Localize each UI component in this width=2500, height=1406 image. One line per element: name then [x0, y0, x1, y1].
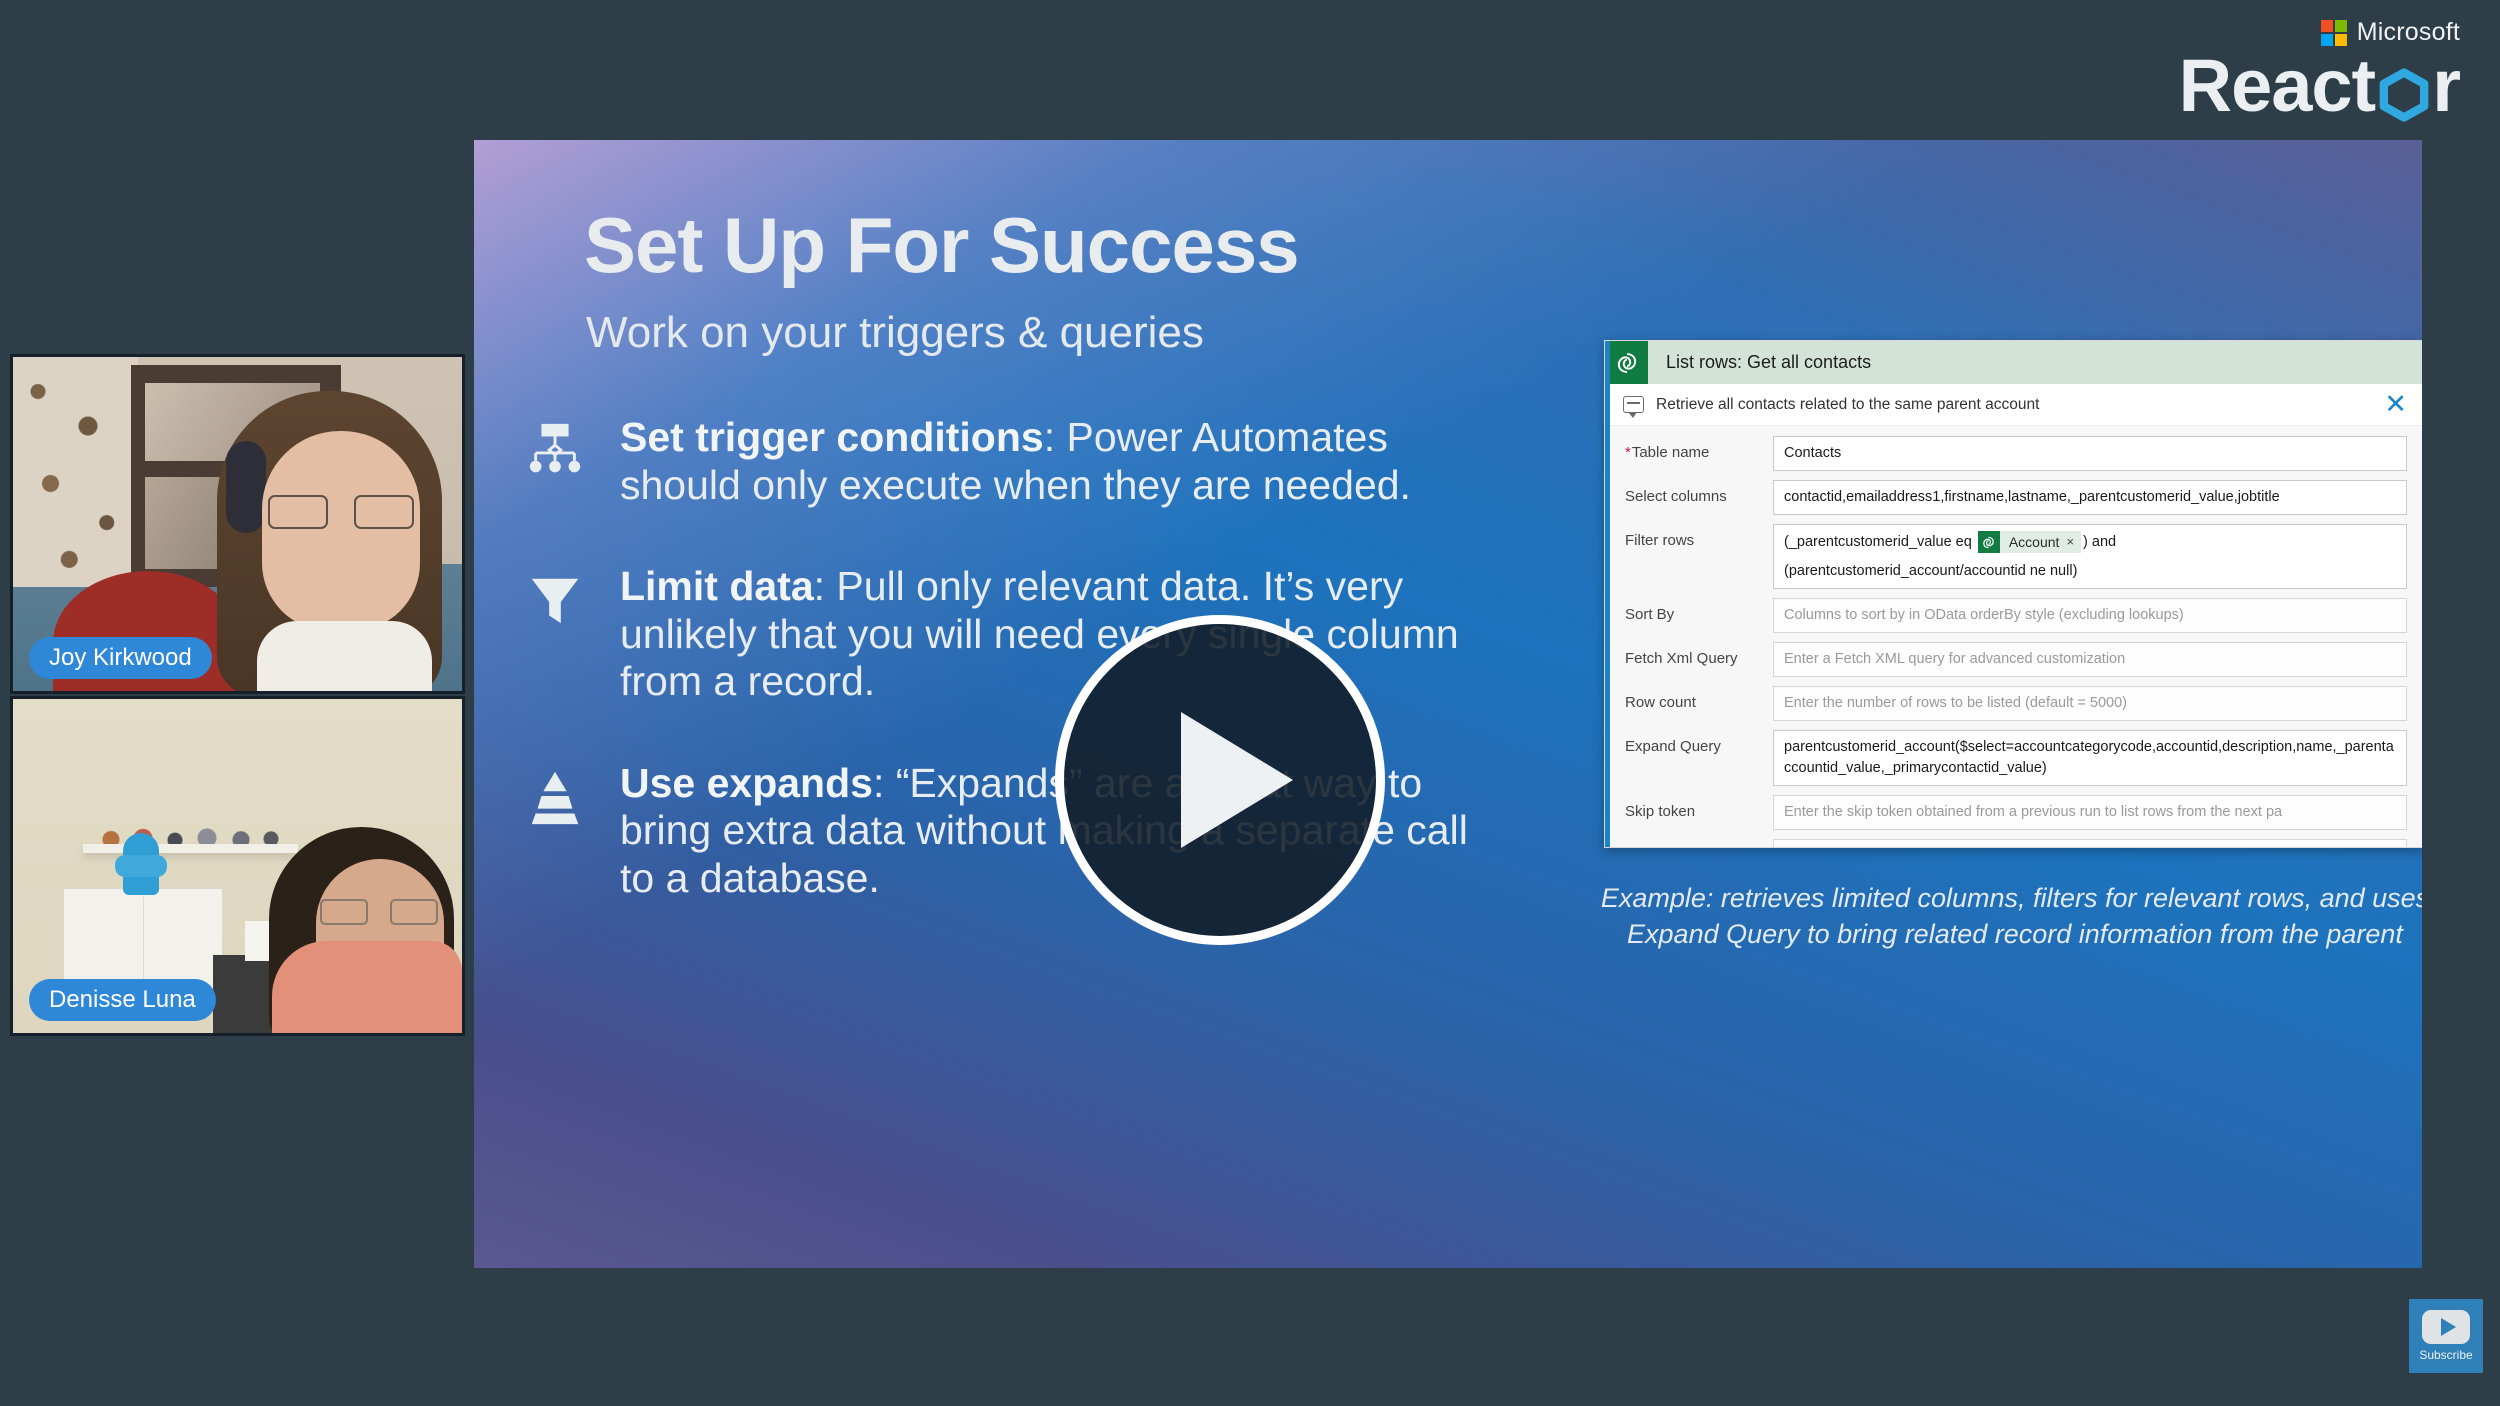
- field-label: Skip token: [1625, 795, 1773, 820]
- blue-figurine: [123, 833, 159, 895]
- field-label: Partition ID: [1625, 839, 1773, 848]
- form-row-filter-rows: Filter rows (_parentcustomerid_value eq …: [1625, 524, 2407, 589]
- white-cabinet: [63, 888, 223, 993]
- token-remove-icon[interactable]: ×: [2066, 533, 2081, 552]
- person-top: [272, 941, 462, 1033]
- list-item-lead: Set trigger conditions: [620, 414, 1044, 460]
- funnel-filter-icon: [518, 563, 592, 641]
- required-asterisk: *: [1625, 444, 1631, 461]
- card-form: *Table name Contacts Select columns cont…: [1605, 426, 2422, 848]
- youtube-triangle: [2441, 1318, 2456, 1336]
- field-label: Filter rows: [1625, 524, 1773, 549]
- microsoft-squares-icon: [2321, 20, 2347, 46]
- form-row-select-columns: Select columns contactid,emailaddress1,f…: [1625, 480, 2407, 515]
- card-accent-bar: [1605, 341, 1610, 847]
- slide-subtitle: Work on your triggers & queries: [586, 308, 1204, 358]
- page-title: Set Up For Success: [584, 200, 1299, 291]
- floral-wallpaper: [13, 357, 138, 587]
- subscribe-label: Subscribe: [2419, 1348, 2472, 1362]
- reactor-text-post: r: [2432, 51, 2460, 121]
- microsoft-wordmark: Microsoft: [2357, 18, 2460, 47]
- form-row-expand-query: Expand Query parentcustomerid_account($s…: [1625, 730, 2407, 786]
- field-label: Expand Query: [1625, 730, 1773, 755]
- wall-shelf: [83, 844, 298, 853]
- form-row-partition-id: Partition ID An option to specify the pa…: [1625, 839, 2407, 848]
- participant-video-denisse-luna[interactable]: Denisse Luna: [10, 696, 465, 1036]
- subscribe-button[interactable]: Subscribe: [2409, 1299, 2483, 1373]
- list-item-text: Limit data: Pull only relevant data. It’…: [620, 563, 1498, 706]
- reactor-wordmark: React r: [2179, 51, 2460, 121]
- field-label: Row count: [1625, 686, 1773, 711]
- participant-name-tag: Denisse Luna: [29, 979, 216, 1021]
- microsoft-logo-row: Microsoft: [2179, 18, 2460, 47]
- person-shirt: [257, 621, 432, 691]
- form-row-skip-token: Skip token Enter the skip token obtained…: [1625, 795, 2407, 830]
- table-name-input[interactable]: Contacts: [1773, 436, 2407, 471]
- form-row-table-name: *Table name Contacts: [1625, 436, 2407, 471]
- card-header[interactable]: List rows: Get all contacts: [1605, 341, 2422, 384]
- filter-rows-input[interactable]: (_parentcustomerid_value eq Account×) an…: [1773, 524, 2407, 589]
- filter-expression-before: (_parentcustomerid_value eq: [1784, 534, 1976, 550]
- form-row-row-count: Row count Enter the number of rows to be…: [1625, 686, 2407, 721]
- org-chart-icon: [518, 414, 592, 492]
- expand-query-input[interactable]: parentcustomerid_account($select=account…: [1773, 730, 2407, 786]
- video-player-frame: Microsoft React r Set Up For Success Wor…: [0, 0, 2500, 1406]
- field-label: Fetch Xml Query: [1625, 642, 1773, 667]
- participant-name-tag: Joy Kirkwood: [29, 637, 212, 679]
- play-triangle-icon: [1181, 712, 1293, 848]
- close-icon[interactable]: ✕: [2384, 391, 2407, 418]
- card-title: List rows: Get all contacts: [1666, 352, 1871, 373]
- card-description-row: Retrieve all contacts related to the sam…: [1605, 384, 2422, 426]
- form-row-fetch-xml-query: Fetch Xml Query Enter a Fetch XML query …: [1625, 642, 2407, 677]
- microsoft-reactor-branding: Microsoft React r: [2179, 18, 2460, 121]
- person-face: [262, 431, 420, 631]
- power-automate-action-card: List rows: Get all contacts Retrieve all…: [1604, 340, 2422, 848]
- comment-icon: [1623, 396, 1644, 413]
- eyeglasses: [320, 899, 438, 925]
- select-columns-input[interactable]: contactid,emailaddress1,firstname,lastna…: [1773, 480, 2407, 515]
- token-label: Account: [2000, 532, 2067, 552]
- form-row-sort-by: Sort By Columns to sort by in OData orde…: [1625, 598, 2407, 633]
- list-item-lead: Use expands: [620, 760, 873, 806]
- list-item-text: Set trigger conditions: Power Automates …: [620, 414, 1498, 509]
- filter-expression-line2: (parentcustomerid_account/accountid ne n…: [1784, 561, 2396, 582]
- dataverse-token-icon: [1978, 531, 2000, 553]
- list-item-lead: Limit data: [620, 563, 814, 609]
- participant-video-joy-kirkwood[interactable]: Joy Kirkwood: [10, 354, 465, 694]
- shelf-figurines: [91, 823, 291, 845]
- fetch-xml-query-input[interactable]: Enter a Fetch XML query for advanced cus…: [1773, 642, 2407, 677]
- filter-expression-after: ) and: [2083, 534, 2116, 550]
- card-description-text: Retrieve all contacts related to the sam…: [1656, 396, 2384, 414]
- partition-id-input[interactable]: An option to specify the partitionId whi…: [1773, 839, 2407, 848]
- headphone-cup: [226, 441, 266, 533]
- dataverse-icon: [1605, 341, 1648, 384]
- sort-by-input[interactable]: Columns to sort by in OData orderBy styl…: [1773, 598, 2407, 633]
- presentation-slide: Set Up For Success Work on your triggers…: [474, 140, 2422, 1268]
- skip-token-input[interactable]: Enter the skip token obtained from a pre…: [1773, 795, 2407, 830]
- eyeglasses: [268, 495, 414, 529]
- reactor-text-pre: React: [2179, 51, 2376, 121]
- field-label: Sort By: [1625, 598, 1773, 623]
- reactor-hexagon-o-icon: [2376, 63, 2432, 119]
- play-button[interactable]: [1055, 615, 1385, 945]
- slide-example-caption: Example: retrieves limited columns, filt…: [1582, 880, 2422, 953]
- list-item: Set trigger conditions: Power Automates …: [518, 414, 1498, 509]
- row-count-input[interactable]: Enter the number of rows to be listed (d…: [1773, 686, 2407, 721]
- field-label: Select columns: [1625, 480, 1773, 505]
- dynamic-content-token[interactable]: Account×: [1978, 531, 2081, 553]
- youtube-play-icon: [2422, 1310, 2470, 1344]
- field-label: *Table name: [1625, 436, 1773, 461]
- pyramid-layers-icon: [518, 760, 592, 838]
